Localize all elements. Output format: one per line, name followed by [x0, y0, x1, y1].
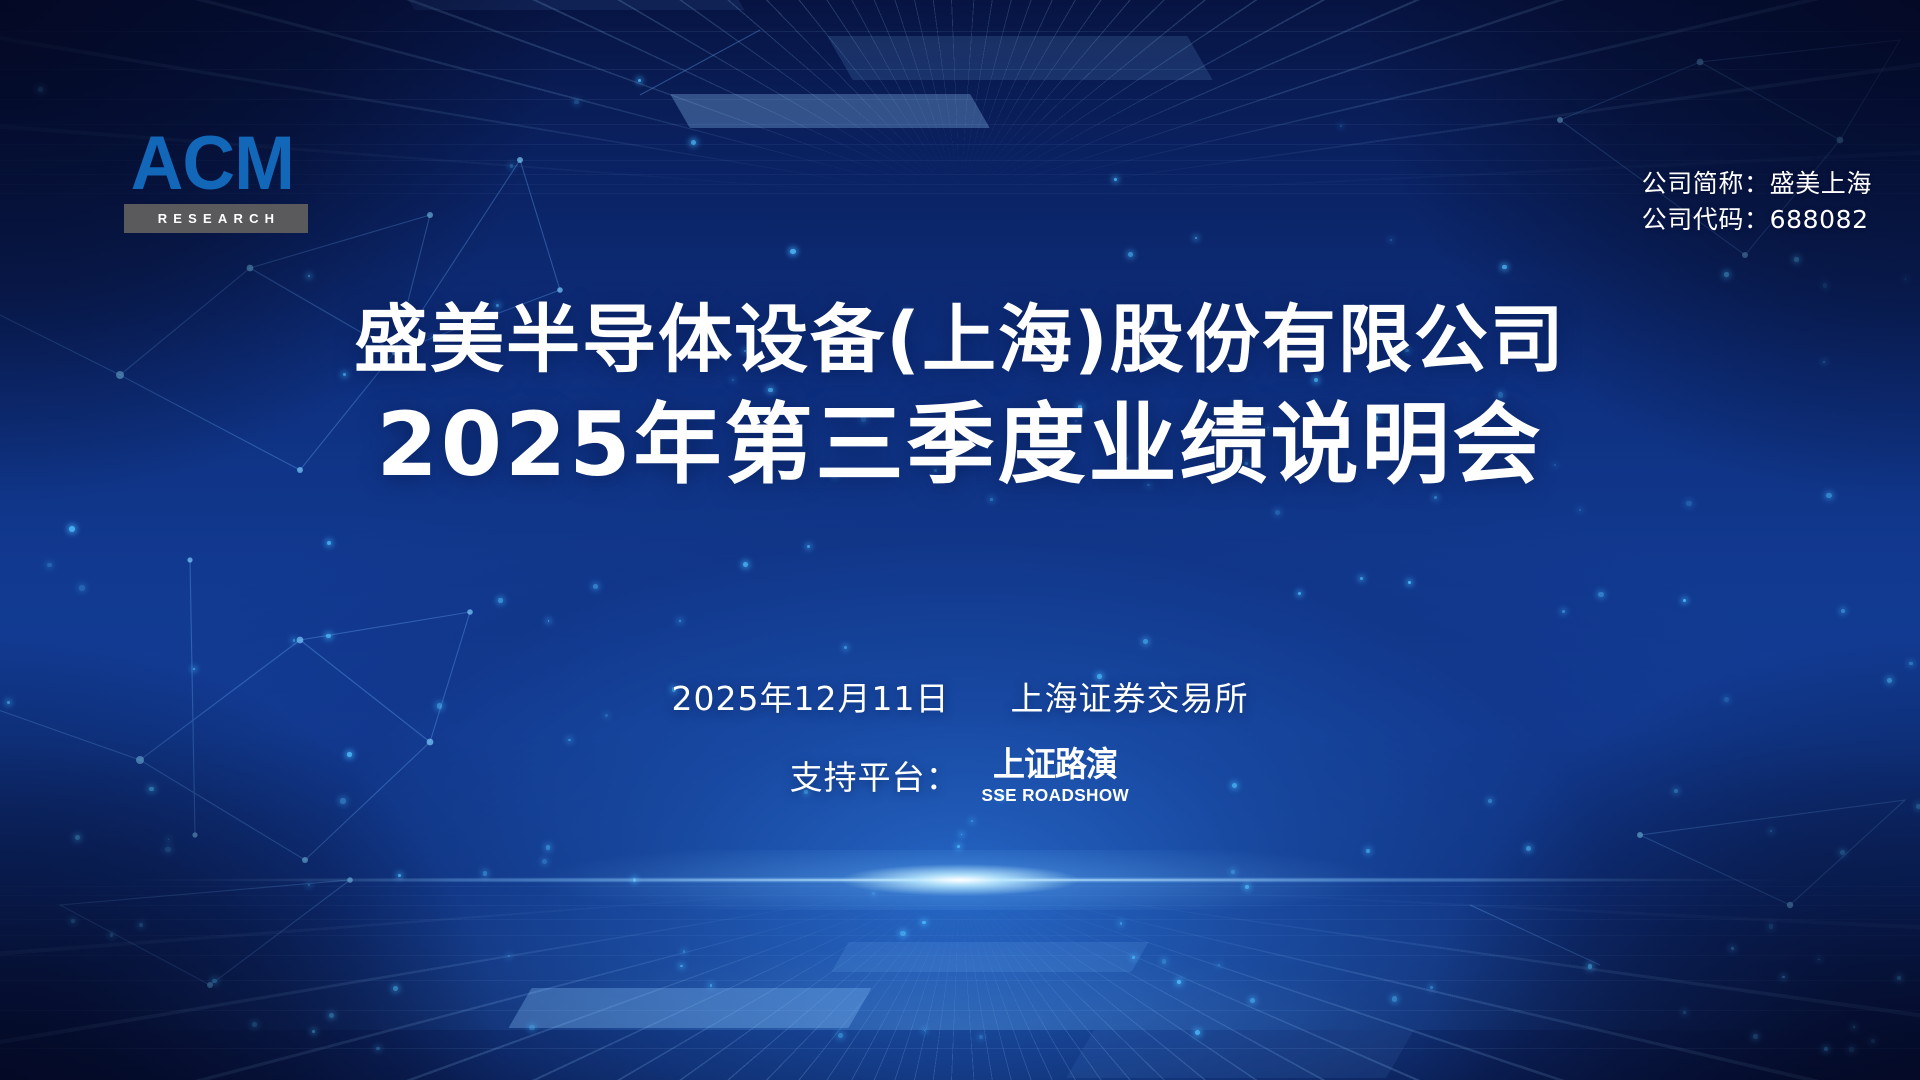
- research-bar: RESEARCH: [124, 204, 308, 233]
- sse-roadshow-logo: 上证路演 SSE ROADSHOW: [980, 748, 1131, 805]
- acm-research-logo: ACM RESEARCH: [124, 131, 308, 233]
- banner-stage: ACM RESEARCH 公司简称：盛美上海 公司代码：688082 盛美半导体…: [0, 0, 1920, 1080]
- acm-wordmark: ACM: [124, 131, 301, 198]
- company-code: 公司代码：688082: [1642, 202, 1872, 238]
- platform-row: 支持平台： 上证路演 SSE ROADSHOW: [0, 746, 1920, 805]
- meta-block: 2025年12月11日 上海证券交易所 支持平台： 上证路演 SSE ROADS…: [0, 672, 1920, 805]
- sse-roadshow-english: SSE ROADSHOW: [981, 787, 1129, 805]
- date-venue-row: 2025年12月11日 上海证券交易所: [0, 672, 1920, 720]
- company-abbreviation: 公司简称：盛美上海: [1642, 166, 1872, 202]
- banner-content: ACM RESEARCH 公司简称：盛美上海 公司代码：688082 盛美半导体…: [0, 0, 1920, 1080]
- event-title: 2025年第三季度业绩说明会: [0, 394, 1920, 496]
- event-venue: 上海证券交易所: [1010, 679, 1248, 718]
- platform-label: 支持平台：: [790, 751, 960, 799]
- company-info-block: 公司简称：盛美上海 公司代码：688082: [1642, 166, 1872, 237]
- event-date: 2025年12月11日: [672, 679, 950, 718]
- company-full-name: 盛美半导体设备(上海)股份有限公司: [0, 298, 1920, 384]
- research-wordmark: RESEARCH: [152, 211, 281, 226]
- headline-block: 盛美半导体设备(上海)股份有限公司 2025年第三季度业绩说明会: [0, 298, 1920, 496]
- sse-roadshow-chinese: 上证路演: [993, 748, 1117, 782]
